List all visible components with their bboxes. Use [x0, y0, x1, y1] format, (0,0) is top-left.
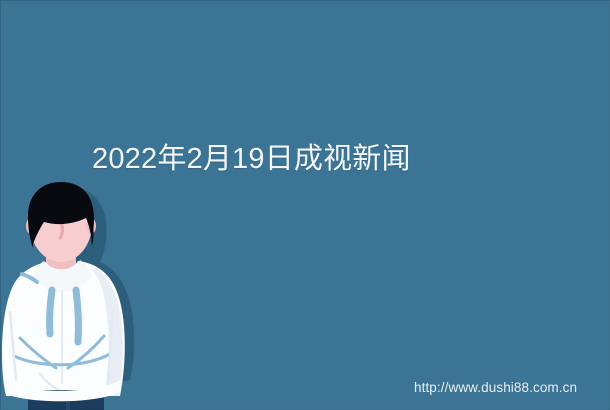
news-thumbnail-image: 2022年2月19日成视新闻 http://www.dushi88.com.cn	[0, 0, 610, 410]
hoodie	[2, 260, 125, 396]
person-in-white-hoodie-illustration	[0, 178, 150, 410]
page-title: 2022年2月19日成视新闻	[92, 142, 411, 176]
source-url-watermark: http://www.dushi88.com.cn	[414, 379, 577, 397]
